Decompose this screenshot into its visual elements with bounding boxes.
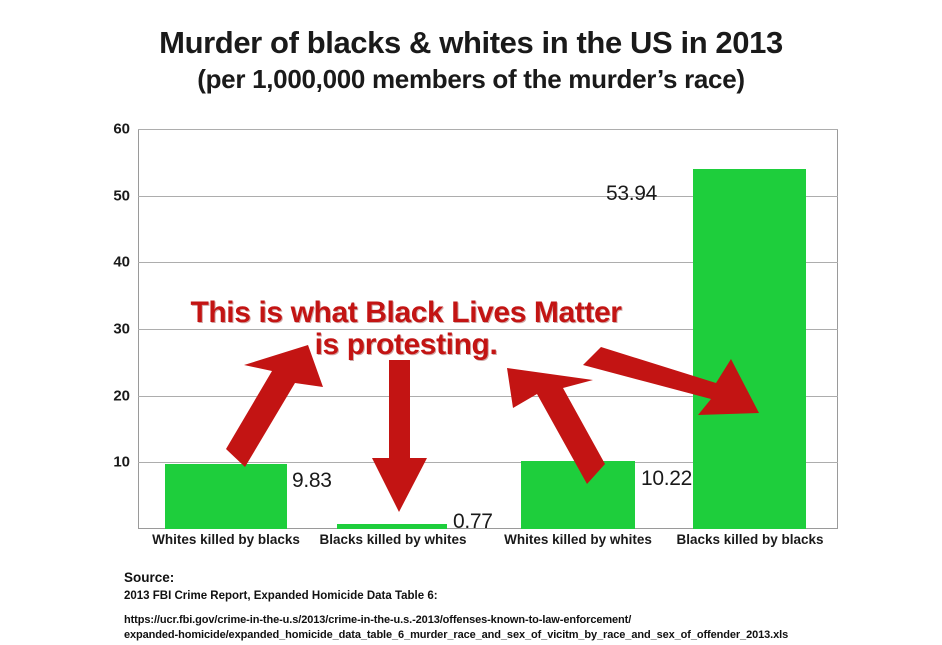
ytick-label-10: 10 [113, 454, 130, 471]
bar-blacks-killed-by-whites[interactable] [337, 524, 447, 529]
bar-blacks-killed-by-blacks[interactable] [693, 169, 806, 529]
category-label-blacks-killed-by-blacks: Blacks killed by blacks [675, 532, 825, 547]
source-block: Source: 2013 FBI Crime Report, Expanded … [124, 569, 788, 644]
annotation-text: This is what Black Lives Matter is prote… [146, 297, 666, 362]
category-label-whites-killed-by-blacks: Whites killed by blacks [151, 532, 301, 547]
annotation-line-2: is protesting. [146, 329, 666, 361]
title-block: Murder of blacks & whites in the US in 2… [0, 26, 942, 95]
chart-subtitle: (per 1,000,000 members of the murder’s r… [0, 65, 942, 95]
annotation-line-1: This is what Black Lives Matter [146, 297, 666, 329]
ytick-label-60: 60 [113, 121, 130, 138]
ytick-label-50: 50 [113, 187, 130, 204]
source-url-line-2: expanded-homicide/expanded_homicide_data… [124, 628, 788, 643]
source-heading: Source: [124, 569, 788, 587]
bar-whites-killed-by-blacks[interactable] [165, 464, 287, 530]
bar-value-blacks-killed-by-whites: 0.77 [453, 510, 493, 534]
bar-value-whites-killed-by-whites: 10.22 [641, 467, 692, 491]
category-label-blacks-killed-by-whites: Blacks killed by whites [318, 532, 468, 547]
bar-value-whites-killed-by-blacks: 9.83 [292, 469, 332, 493]
bar-whites-killed-by-whites[interactable] [521, 461, 635, 529]
chart-title: Murder of blacks & whites in the US in 2… [0, 26, 942, 61]
category-label-whites-killed-by-whites: Whites killed by whites [503, 532, 653, 547]
ytick-label-40: 40 [113, 254, 130, 271]
source-url-line-1: https://ucr.fbi.gov/crime-in-the-u.s/201… [124, 613, 788, 628]
gridline-60: 60 [138, 129, 838, 130]
bar-value-blacks-killed-by-blacks: 53.94 [606, 182, 657, 206]
source-report-line: 2013 FBI Crime Report, Expanded Homicide… [124, 589, 788, 605]
ytick-label-20: 20 [113, 387, 130, 404]
ytick-label-30: 30 [113, 321, 130, 338]
source-url[interactable]: https://ucr.fbi.gov/crime-in-the-u.s/201… [124, 613, 788, 644]
